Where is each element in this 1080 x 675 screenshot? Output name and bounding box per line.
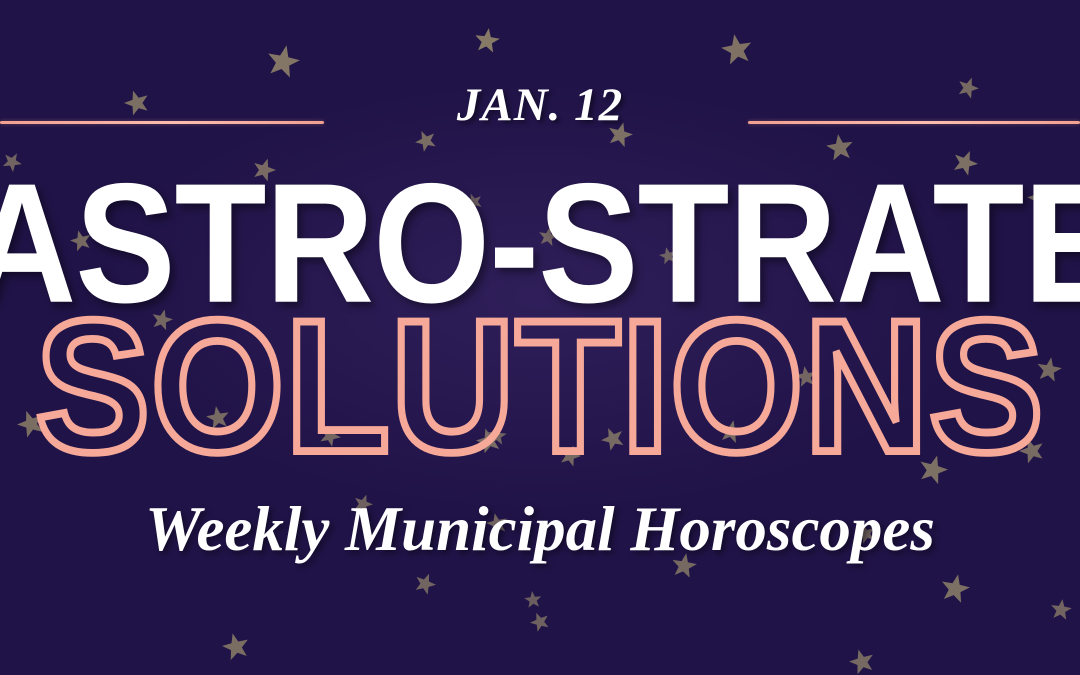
star-icon bbox=[412, 570, 439, 596]
page-subtitle: Weekly Municipal Horoscopes bbox=[0, 498, 1080, 561]
star-icon bbox=[524, 590, 543, 608]
issue-date: JAN. 12 bbox=[0, 82, 1080, 129]
star-icon bbox=[264, 42, 302, 79]
star-icon bbox=[719, 32, 754, 66]
star-icon bbox=[847, 646, 877, 675]
page-title-secondary: SOLUTIONS bbox=[0, 292, 1080, 480]
star-icon bbox=[939, 571, 973, 603]
star-icon bbox=[527, 609, 551, 633]
star-icon bbox=[220, 630, 252, 661]
horoscope-poster: JAN. 12 ASTRO-STRATEGIC SOLUTIONS Weekly… bbox=[0, 0, 1080, 675]
star-icon bbox=[473, 26, 501, 53]
star-icon bbox=[1049, 598, 1072, 621]
